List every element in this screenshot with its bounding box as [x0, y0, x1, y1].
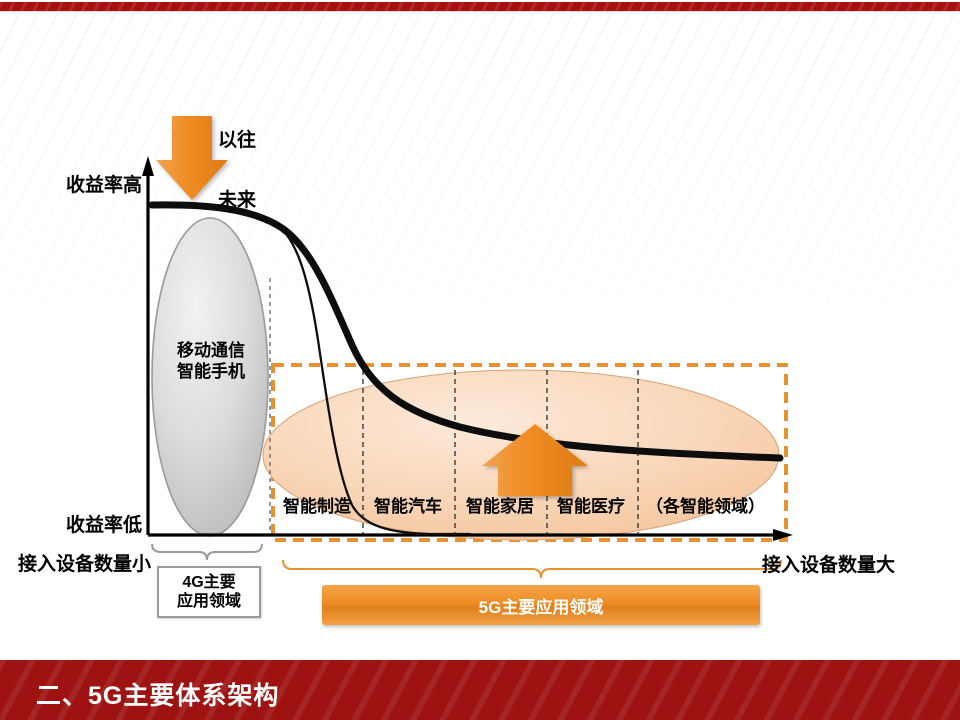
y-axis-arrowhead: [142, 156, 154, 176]
ellipse-label-line-1: 移动通信: [152, 340, 270, 361]
box-5g-text: 5G主要应用领域: [479, 593, 604, 618]
segment-label-smart-home: 智能家居: [466, 492, 534, 517]
x-axis-label-small: 接入设备数量小: [18, 549, 151, 576]
y-axis-label-high: 收益率高: [66, 170, 142, 197]
ellipse-label-line-2: 智能手机: [152, 361, 270, 382]
box-4g-application-areas: 4G主要 应用领域: [157, 566, 261, 618]
footer-section-title: 二、5G主要体系架构: [36, 676, 279, 712]
segment-label-smart-manufacturing: 智能制造: [283, 492, 351, 517]
segment-label-all-smart-domains: （各智能领域）: [646, 492, 765, 517]
x-axis-label-large: 接入设备数量大: [762, 550, 895, 577]
curve-label-future: 未来: [218, 185, 256, 212]
segment-label-smart-healthcare: 智能医疗: [557, 492, 625, 517]
curve-label-past: 以往: [218, 125, 256, 152]
y-axis-label-low: 收益率低: [66, 510, 142, 537]
ellipse-mobile-smartphone-label: 移动通信 智能手机: [152, 340, 270, 382]
box-4g-line-1: 4G主要: [177, 573, 241, 592]
bracket-5g: [283, 560, 781, 578]
box-4g-line-2: 应用领域: [177, 592, 241, 611]
box-5g-application-areas: 5G主要应用领域: [322, 585, 760, 625]
bracket-4g: [152, 544, 262, 560]
segment-label-smart-vehicle: 智能汽车: [374, 492, 442, 517]
box-4g-text: 4G主要 应用领域: [177, 573, 241, 611]
